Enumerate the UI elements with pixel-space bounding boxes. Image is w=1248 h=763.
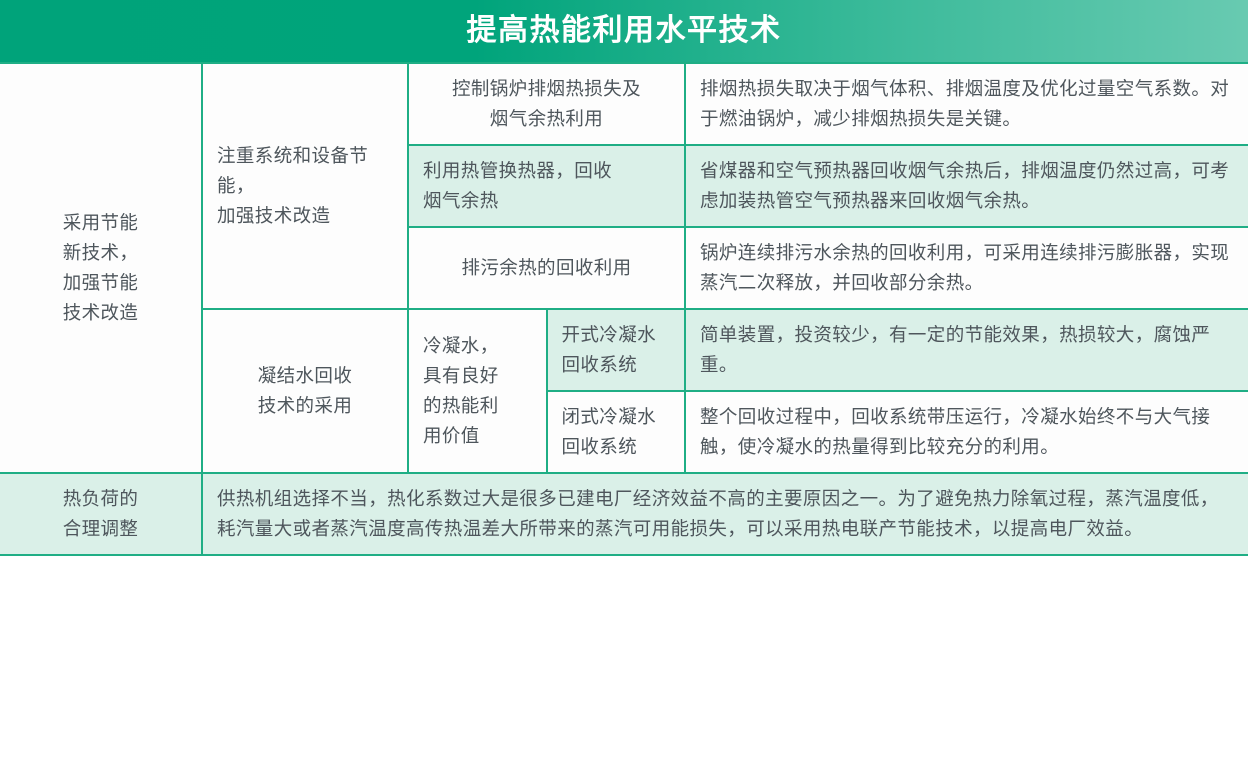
subgroup-cell-condensate-value: 冷凝水， 具有良好 的热能利 用价值 [408, 309, 547, 473]
technology-table: 采用节能 新技术， 加强节能 技术改造 注重系统和设备节能， 加强技术改造 控制… [0, 62, 1248, 556]
item-cell-open-condensate-system: 开式冷凝水 回收系统 [547, 309, 686, 391]
desc-cell-closed-condensate-system: 整个回收过程中，回收系统带压运行，冷凝水始终不与大气接触，使冷凝水的热量得到比较… [685, 391, 1248, 473]
desc-cell-blowdown-recovery: 锅炉连续排污水余热的回收利用，可采用连续排污膨胀器，实现蒸汽二次释放，并回收部分… [685, 227, 1248, 309]
item-cell-heat-pipe-exchanger: 利用热管换热器，回收 烟气余热 [408, 145, 685, 227]
page-title: 提高热能利用水平技术 [467, 16, 782, 46]
desc-cell-open-condensate-system: 简单装置，投资较少，有一定的节能效果，热损较大，腐蚀严重。 [685, 309, 1248, 391]
item-cell-closed-condensate-system: 闭式冷凝水 回收系统 [547, 391, 686, 473]
desc-cell-heat-pipe-exchanger: 省煤器和空气预热器回收烟气余热后，排烟温度仍然过高，可考虑加装热管空气预热器来回… [685, 145, 1248, 227]
desc-cell-heat-load: 供热机组选择不当，热化系数过大是很多已建电厂经济效益不高的主要原因之一。为了避免… [202, 473, 1248, 555]
page-title-bar: 提高热能利用水平技术 [0, 0, 1248, 62]
item-cell-flue-gas-control: 控制锅炉排烟热损失及 烟气余热利用 [408, 63, 685, 145]
table-row: 热负荷的 合理调整 供热机组选择不当，热化系数过大是很多已建电厂经济效益不高的主… [0, 473, 1248, 555]
category-cell-heat-load: 热负荷的 合理调整 [0, 473, 202, 555]
category-cell-energy-saving: 采用节能 新技术， 加强节能 技术改造 [0, 63, 202, 473]
group-cell-system-equipment: 注重系统和设备节能， 加强技术改造 [202, 63, 408, 309]
desc-cell-flue-gas-control: 排烟热损失取决于烟气体积、排烟温度及优化过量空气系数。对于燃油锅炉，减少排烟热损… [685, 63, 1248, 145]
item-cell-blowdown-recovery: 排污余热的回收利用 [408, 227, 685, 309]
group-cell-condensate-recovery: 凝结水回收 技术的采用 [202, 309, 408, 473]
table-row: 采用节能 新技术， 加强节能 技术改造 注重系统和设备节能， 加强技术改造 控制… [0, 63, 1248, 145]
